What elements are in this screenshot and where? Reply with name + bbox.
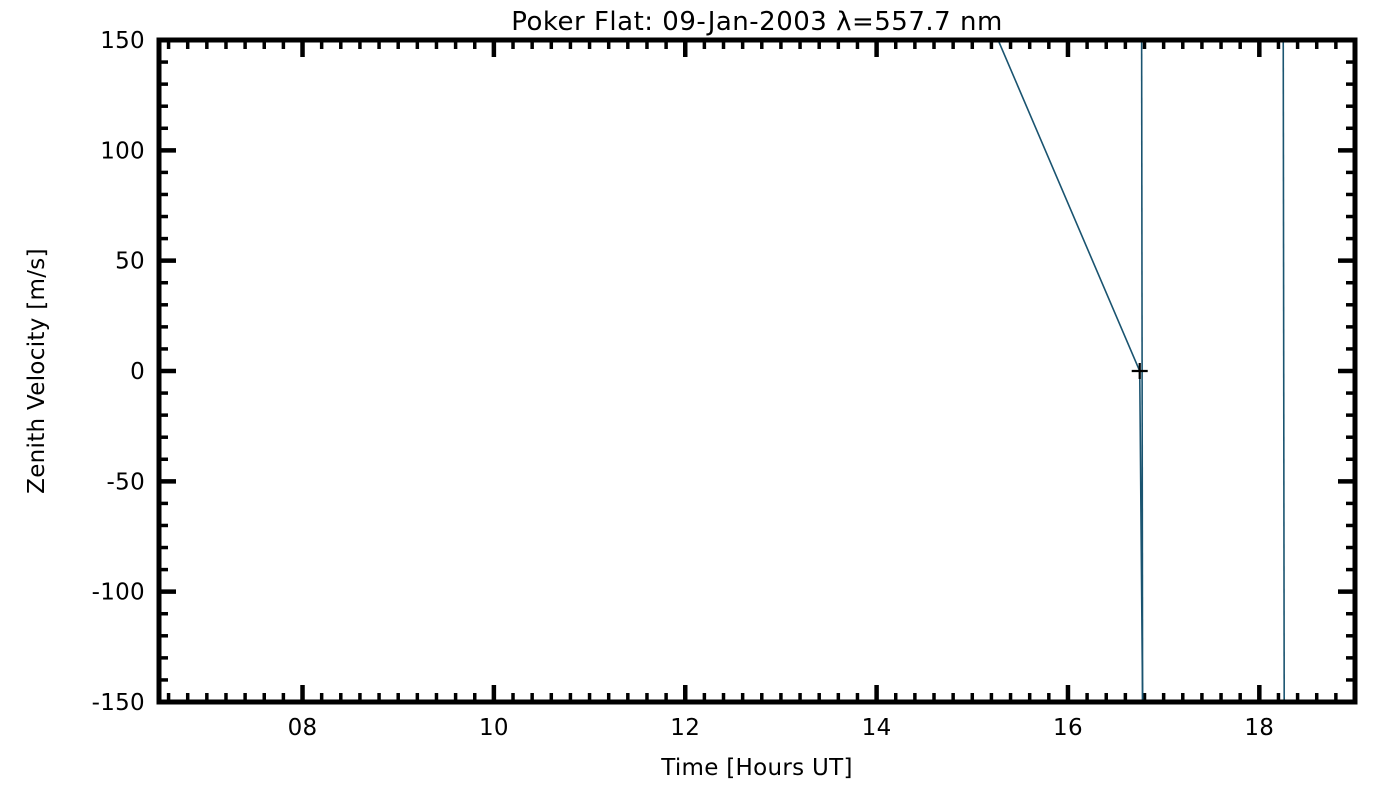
- plot-figure: Poker Flat: 09-Jan-2003 λ=557.7 nm Zenit…: [0, 0, 1400, 800]
- y-tick-label: 50: [115, 249, 145, 275]
- y-axis-title: Zenith Velocity [m/s]: [24, 248, 50, 494]
- chart-canvas: Poker Flat: 09-Jan-2003 λ=557.7 nm Zenit…: [0, 0, 1400, 800]
- y-tick-label: -100: [92, 580, 145, 606]
- x-tick-label: 16: [1053, 715, 1083, 741]
- y-tick-label: 100: [100, 138, 145, 164]
- x-axis-title: Time [Hours UT]: [660, 755, 853, 781]
- x-tick-label: 18: [1244, 715, 1274, 741]
- x-tick-label: 10: [479, 715, 509, 741]
- figure-background: [0, 0, 1400, 800]
- chart-title: Poker Flat: 09-Jan-2003 λ=557.7 nm: [511, 7, 1003, 37]
- x-tick-label: 08: [288, 715, 318, 741]
- y-tick-label: -150: [92, 690, 145, 716]
- y-tick-label: -50: [107, 469, 145, 495]
- y-tick-label: 150: [100, 28, 145, 54]
- x-tick-label: 14: [862, 715, 892, 741]
- y-tick-label: 0: [130, 359, 145, 385]
- x-tick-label: 12: [670, 715, 700, 741]
- series-vertical-excursion-2: [1283, 40, 1284, 702]
